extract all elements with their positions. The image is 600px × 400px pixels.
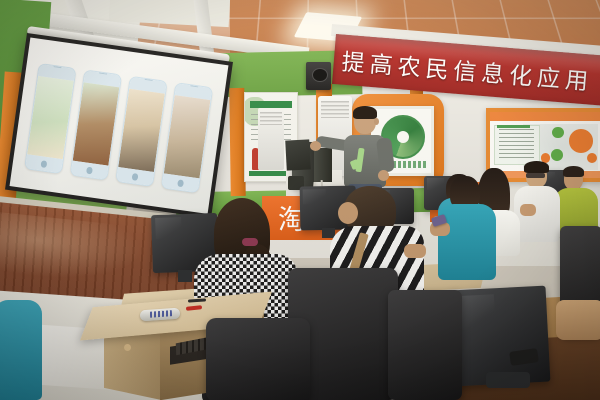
phone-speaker-icon: [144, 79, 153, 80]
poster-header-bar: [250, 101, 292, 108]
attendee-torso: [0, 300, 42, 400]
phone-speaker-icon: [53, 66, 62, 67]
attendee-hair: [563, 166, 584, 177]
attendee-hands: [520, 204, 536, 216]
attendee-face: [338, 202, 358, 224]
presenter-arm-left: [376, 137, 395, 173]
phone-screen-content: [118, 88, 165, 172]
phone-screen-content: [73, 82, 120, 166]
attendee-hair: [524, 161, 549, 173]
projection-screen-surface: [10, 38, 229, 214]
phone-screen-content: [164, 95, 211, 179]
poster-circle-green-1: [552, 127, 564, 139]
projection-screen: [5, 33, 233, 218]
attendee-glasses-man: [514, 164, 560, 244]
monitor-sheen: [303, 189, 326, 205]
poster-subheader-bar: [497, 125, 530, 128]
slide-phone-mockup-2: [70, 69, 123, 180]
monitor-stand: [486, 372, 530, 388]
monitor-sheen: [155, 218, 182, 240]
slide-phone-mockup-4: [161, 82, 214, 193]
poster-circle-green-2: [551, 149, 563, 161]
attendee-teal-shirt-front: [436, 176, 496, 306]
office-chair[interactable]: [388, 290, 462, 400]
presenter-hair: [353, 106, 377, 119]
poster-text-lines: [499, 129, 534, 159]
speaker-cone-icon: [312, 68, 328, 82]
attendee-teal-left: [0, 300, 42, 400]
wall-speaker: [306, 62, 331, 90]
hair-tie: [242, 238, 258, 246]
eyeglasses-icon: [526, 173, 545, 178]
attendee-hand: [404, 244, 426, 258]
air-conditioner-left: [258, 108, 284, 170]
monitor-stand: [178, 270, 192, 282]
desk-knob: [124, 344, 131, 351]
poster-circle-orange-3: [587, 153, 597, 163]
poster-header-bar: [490, 112, 600, 121]
classroom-photo: 提高农民信息化应用: [0, 0, 600, 400]
presenter-hand-left: [378, 170, 389, 181]
presenter-hand-right: [310, 141, 321, 151]
podium-monitor: [285, 139, 311, 170]
attendee-arm-foreground: [556, 300, 600, 340]
phone-speaker-icon: [190, 86, 199, 87]
ac-vent-icon: [260, 112, 282, 126]
remote-buttons-icon: [150, 310, 172, 318]
slide-phone-mockup-3: [115, 76, 168, 187]
office-chair[interactable]: [206, 318, 310, 400]
attendee-torso: [438, 204, 496, 280]
slide-phone-mockup-1: [24, 63, 77, 174]
presenter-ear: [374, 118, 379, 125]
phone-speaker-icon: [99, 73, 108, 74]
phone-screen-content: [27, 76, 74, 160]
